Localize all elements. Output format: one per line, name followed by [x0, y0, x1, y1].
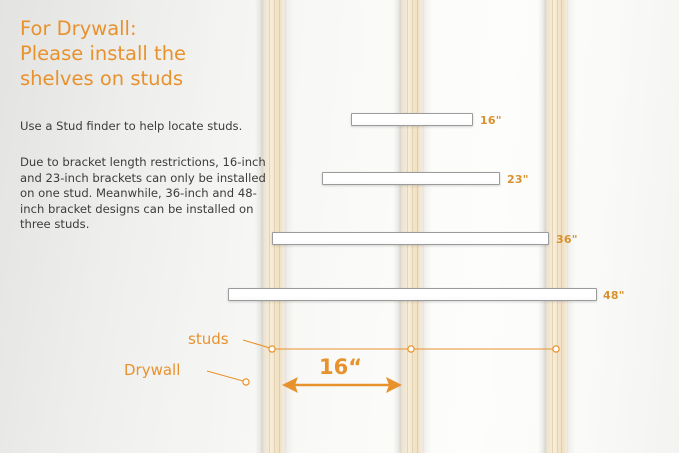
- drywall-callout-label: Drywall: [124, 361, 180, 379]
- studs-leader-line: [243, 340, 270, 348]
- studs-marker-right: [553, 346, 559, 352]
- studs-marker-left: [269, 346, 275, 352]
- drywall-shelf-instruction-graphic: 16" 23" 36" 48" For Drywall: Please inst…: [0, 0, 679, 453]
- drywall-marker: [243, 379, 249, 385]
- drywall-leader-line: [207, 371, 243, 381]
- stud-spacing-dimension-label: 16“: [319, 355, 362, 379]
- callout-overlay: [0, 0, 679, 453]
- studs-marker-center: [408, 346, 414, 352]
- studs-callout-label: studs: [188, 330, 229, 348]
